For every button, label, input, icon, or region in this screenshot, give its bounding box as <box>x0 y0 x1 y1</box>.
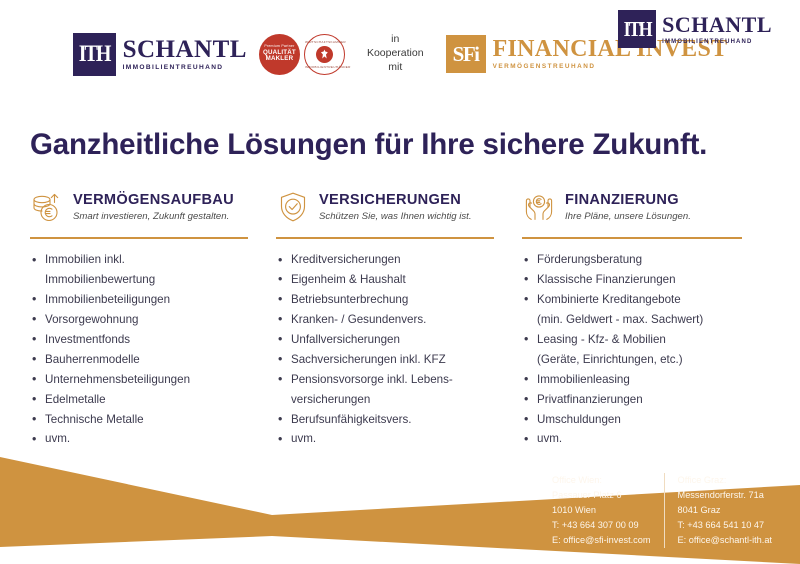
column-list: Förderungsberatung Klassische Finanzieru… <box>522 250 756 449</box>
chamber-of-commerce-seal-icon: WIRTSCHAFTSKAMMER IMMOBILIENTREUHÄNDER <box>304 34 345 75</box>
column-title: FINANZIERUNG <box>565 192 691 209</box>
ith-brand-name-topright: SCHANTL <box>662 14 772 36</box>
office-title: Office Graz: <box>678 473 772 488</box>
list-item: Bauherrenmodelle <box>30 350 262 370</box>
office-wien-block: Office Wien: Passauer Platz 6 1010 Wien … <box>552 473 664 548</box>
column-title-group: FINANZIERUNG Ihre Pläne, unsere Lösungen… <box>565 192 691 223</box>
list-item: Eigenheim & Haushalt <box>276 270 508 290</box>
column-versicherungen: VERSICHERUNGEN Schützen Sie, was Ihnen w… <box>276 186 522 449</box>
column-header: VERSICHERUNGEN Schützen Sie, was Ihnen w… <box>276 186 508 228</box>
office-graz-block: Office Graz: Messendorferstr. 71a 8041 G… <box>664 473 772 548</box>
column-divider <box>522 237 742 239</box>
cooperation-line-2: Kooperation <box>367 47 424 61</box>
list-item: Kranken- / Gesundenvers. <box>276 310 508 330</box>
list-item: Immobilienbeteiligungen <box>30 290 262 310</box>
ith-monogram-icon-topright: ITH <box>618 10 656 48</box>
list-item: (min. Geldwert - max. Sachwert) <box>522 310 756 330</box>
flyer-page: ITH SCHANTL IMMOBILIENTREUHAND Premium P… <box>0 0 800 564</box>
eagle-emblem-icon <box>316 46 333 63</box>
list-item: Vorsorgewohnung <box>30 310 262 330</box>
ith-monogram-label: ITH <box>79 43 110 66</box>
list-item: Technische Metalle <box>30 410 262 430</box>
column-list: Immobilien inkl. Immobilienbewertung Imm… <box>30 250 262 449</box>
list-item: Kreditversicherungen <box>276 250 508 270</box>
list-item: (Geräte, Einrichtungen, etc.) <box>522 350 756 370</box>
office-phone[interactable]: T: +43 664 541 10 47 <box>678 518 772 533</box>
ith-monogram-label-topright: ITH <box>624 19 651 40</box>
list-item: Förderungsberatung <box>522 250 756 270</box>
cooperation-line-1: in <box>367 33 424 47</box>
ith-wordmark: SCHANTL IMMOBILIENTREUHAND <box>123 37 247 72</box>
list-item: Sachversicherungen inkl. KFZ <box>276 350 508 370</box>
list-item: Immobilienleasing <box>522 370 756 390</box>
list-item: Immobilienbewertung <box>30 270 262 290</box>
coins-growth-euro-icon <box>30 190 64 224</box>
list-item: Leasing - Kfz- & Mobilien <box>522 330 756 350</box>
office-city: 8041 Graz <box>678 503 772 518</box>
column-divider <box>276 237 494 239</box>
column-tagline: Schützen Sie, was Ihnen wichtig ist. <box>319 211 472 222</box>
office-email[interactable]: E: office@sfi-invest.com <box>552 533 651 548</box>
list-item: Investmentfonds <box>30 330 262 350</box>
column-tagline: Smart investieren, Zukunft gestalten. <box>73 211 234 222</box>
list-item: Klassische Finanzierungen <box>522 270 756 290</box>
list-item: uvm. <box>522 429 756 449</box>
list-item: Unternehmensbeteiligungen <box>30 370 262 390</box>
column-finanzierung: FINANZIERUNG Ihre Pläne, unsere Lösungen… <box>522 186 770 449</box>
office-email[interactable]: E: office@schantl-ith.at <box>678 533 772 548</box>
cooperation-note: in Kooperation mit <box>367 33 424 75</box>
column-title: VERMÖGENSAUFBAU <box>73 192 234 209</box>
list-item: uvm. <box>30 429 262 449</box>
page-headline: Ganzheitliche Lösungen für Ihre sichere … <box>30 128 707 162</box>
sfi-brand-subtitle: VERMÖGENSTREUHAND <box>493 64 728 70</box>
footer-contact-blocks: Office Wien: Passauer Platz 6 1010 Wien … <box>552 473 772 548</box>
column-title-group: VERMÖGENSAUFBAU Smart investieren, Zukun… <box>73 192 234 223</box>
ith-monogram-icon: ITH <box>73 33 116 76</box>
office-street: Messendorferstr. 71a <box>678 488 772 503</box>
list-item: Unfallversicherungen <box>276 330 508 350</box>
service-columns: VERMÖGENSAUFBAU Smart investieren, Zukun… <box>30 186 770 449</box>
ith-brand-subtitle-topright: IMMOBILIENTREUHAND <box>662 39 772 45</box>
chamber-seal-bottom-text: IMMOBILIENTREUHÄNDER <box>305 65 344 69</box>
chamber-seal-top-text: WIRTSCHAFTSKAMMER <box>305 40 344 44</box>
column-vermoegensaufbau: VERMÖGENSAUFBAU Smart investieren, Zukun… <box>30 186 276 449</box>
shield-check-icon <box>276 190 310 224</box>
list-item: Pensionsvorsorge inkl. Lebens- <box>276 370 508 390</box>
list-item: Berufsunfähigkeitsvers. <box>276 410 508 430</box>
hands-holding-euro-icon <box>522 190 556 224</box>
office-street: Passauer Platz 6 <box>552 488 651 503</box>
office-city: 1010 Wien <box>552 503 651 518</box>
column-title-group: VERSICHERUNGEN Schützen Sie, was Ihnen w… <box>319 192 472 223</box>
list-item: Edelmetalle <box>30 390 262 410</box>
list-item: uvm. <box>276 429 508 449</box>
certification-seals: Premium Partner QUALITÄT MAKLER WIRTSCHA… <box>259 34 345 75</box>
column-list: Kreditversicherungen Eigenheim & Haushal… <box>276 250 508 449</box>
list-item: Betriebsunterbrechung <box>276 290 508 310</box>
quality-maklar-seal-icon: Premium Partner QUALITÄT MAKLER <box>259 34 300 75</box>
column-header: VERMÖGENSAUFBAU Smart investieren, Zukun… <box>30 186 262 228</box>
cooperation-line-3: mit <box>367 61 424 75</box>
ith-brand-name: SCHANTL <box>123 37 247 62</box>
list-item: versicherungen <box>276 390 508 410</box>
column-divider <box>30 237 248 239</box>
list-item: Umschuldungen <box>522 410 756 430</box>
office-title: Office Wien: <box>552 473 651 488</box>
list-item: Kombinierte Kreditangebote <box>522 290 756 310</box>
ith-schantl-logo-topright: ITH SCHANTL IMMOBILIENTREUHAND <box>618 10 772 48</box>
column-title: VERSICHERUNGEN <box>319 192 472 209</box>
sfi-monogram-label: SFi <box>453 44 479 65</box>
sfi-monogram-icon: SFi <box>446 35 486 73</box>
office-phone[interactable]: T: +43 664 307 00 09 <box>552 518 651 533</box>
list-item: Privatfinanzierungen <box>522 390 756 410</box>
column-header: FINANZIERUNG Ihre Pläne, unsere Lösungen… <box>522 186 756 228</box>
ith-wordmark-topright: SCHANTL IMMOBILIENTREUHAND <box>662 14 772 45</box>
seal-line-3: MAKLER <box>266 56 294 63</box>
ith-schantl-logo: ITH SCHANTL IMMOBILIENTREUHAND <box>73 33 247 76</box>
column-tagline: Ihre Pläne, unsere Lösungen. <box>565 211 691 222</box>
ith-brand-subtitle: IMMOBILIENTREUHAND <box>123 65 247 72</box>
list-item: Immobilien inkl. <box>30 250 262 270</box>
